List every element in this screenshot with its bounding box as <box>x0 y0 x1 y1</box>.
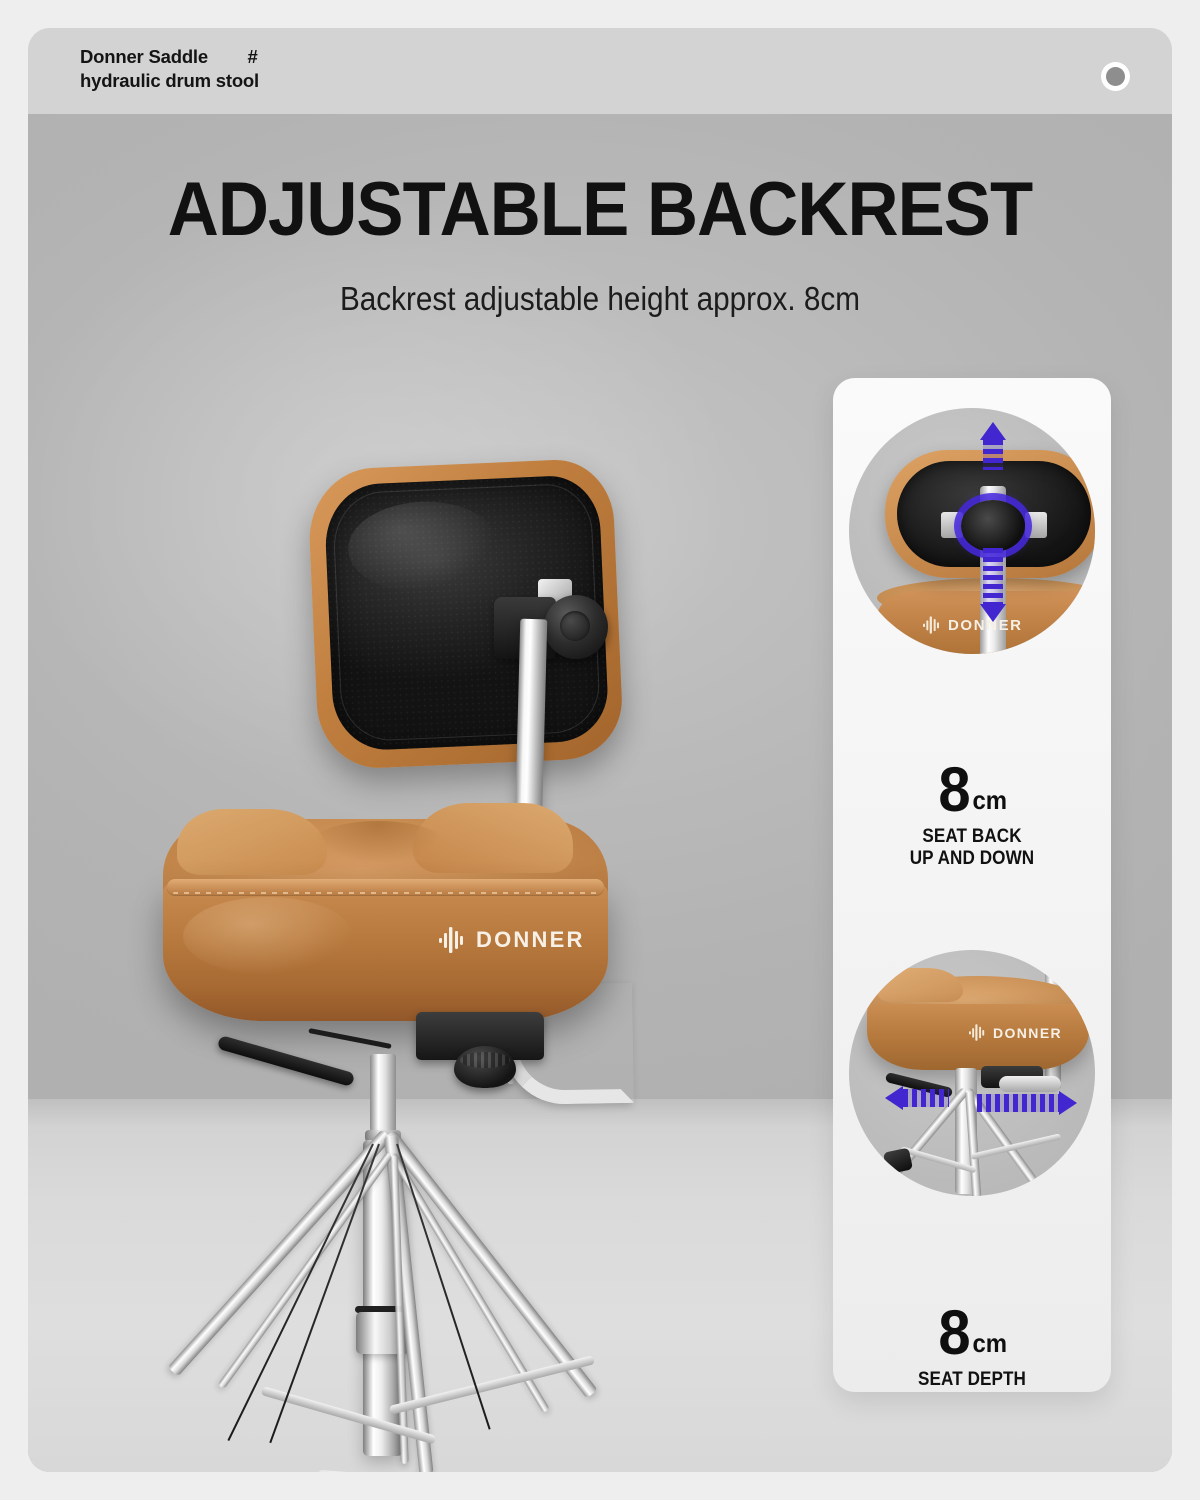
detail-label-2-line1: SEAT DEPTH <box>847 1369 1097 1391</box>
detail-label-1-line2: UP AND DOWN <box>847 848 1097 870</box>
circle-dot-icon <box>1101 62 1130 91</box>
mini2-foot-front <box>907 1194 933 1196</box>
donner-waveform-icon <box>439 927 469 953</box>
mini2-post-bend <box>999 1076 1061 1092</box>
seat-hump-left <box>177 809 327 875</box>
brand-logo: DONNER <box>439 927 585 953</box>
seat-stitching <box>173 892 598 894</box>
mini1-brand-logo: DONNER <box>923 616 1023 634</box>
card-header: Donner Saddle # hydraulic drum stool <box>28 28 1172 114</box>
seat-contour-dip <box>313 821 443 863</box>
detail-unit-1: cm <box>972 785 1007 816</box>
mini2-brand-wordmark: DONNER <box>993 1025 1062 1041</box>
donner-waveform-icon <box>923 616 943 634</box>
detail-value-1: 8 <box>938 760 968 820</box>
page-subheadline: Backrest adjustable height approx. 8cm <box>85 280 1115 318</box>
backrest-adjustment-assembly <box>488 581 618 673</box>
product-feature-card: Donner Saddle # hydraulic drum stool ADJ… <box>28 28 1172 1472</box>
mini2-foot-left <box>883 1148 913 1175</box>
detail-figure-seat-back-up-down: DONNER <box>849 408 1095 654</box>
feature-detail-panel: DONNER 8cm SEAT BACK UP <box>833 378 1111 1392</box>
detail-label-1-line1: SEAT BACK <box>847 826 1097 848</box>
donner-waveform-icon <box>969 1024 988 1041</box>
detail-unit-2: cm <box>972 1328 1007 1359</box>
detail-illustration-2: DONNER <box>849 950 1095 1196</box>
brand-wordmark: DONNER <box>476 927 585 953</box>
hydraulic-piston <box>370 1054 396 1132</box>
page-headline: ADJUSTABLE BACKREST <box>68 166 1132 253</box>
detail-label-2-line2: ADJUSTMENT <box>847 1391 1097 1392</box>
mini1-bracket-right <box>1025 512 1047 538</box>
adjustment-knob <box>544 595 608 659</box>
detail-illustration-1: DONNER <box>849 408 1095 654</box>
mini2-foot-right <box>1043 1170 1073 1196</box>
seat-depth-knob <box>454 1046 516 1088</box>
mini2-brand-logo: DONNER <box>969 1024 1062 1041</box>
detail-caption-seat-depth-adjustment: 8cm SEAT DEPTH ADJUSTMENT <box>833 1303 1111 1392</box>
product-illustration-drum-stool: DONNER <box>158 364 778 1444</box>
product-title: Donner Saddle # hydraulic drum stool <box>80 45 259 93</box>
mini1-adjustment-knob <box>961 500 1025 552</box>
hero-stage: ADJUSTABLE BACKREST Backrest adjustable … <box>28 114 1172 1472</box>
seat-highlight <box>183 897 353 975</box>
mini2-seat-hump <box>877 968 963 1002</box>
detail-caption-seat-back-up-down: 8cm SEAT BACK UP AND DOWN <box>833 760 1111 870</box>
detail-figure-seat-depth-adjustment: DONNER <box>849 950 1095 1196</box>
detail-value-2: 8 <box>938 1303 968 1363</box>
mini1-bracket-left <box>941 512 963 538</box>
